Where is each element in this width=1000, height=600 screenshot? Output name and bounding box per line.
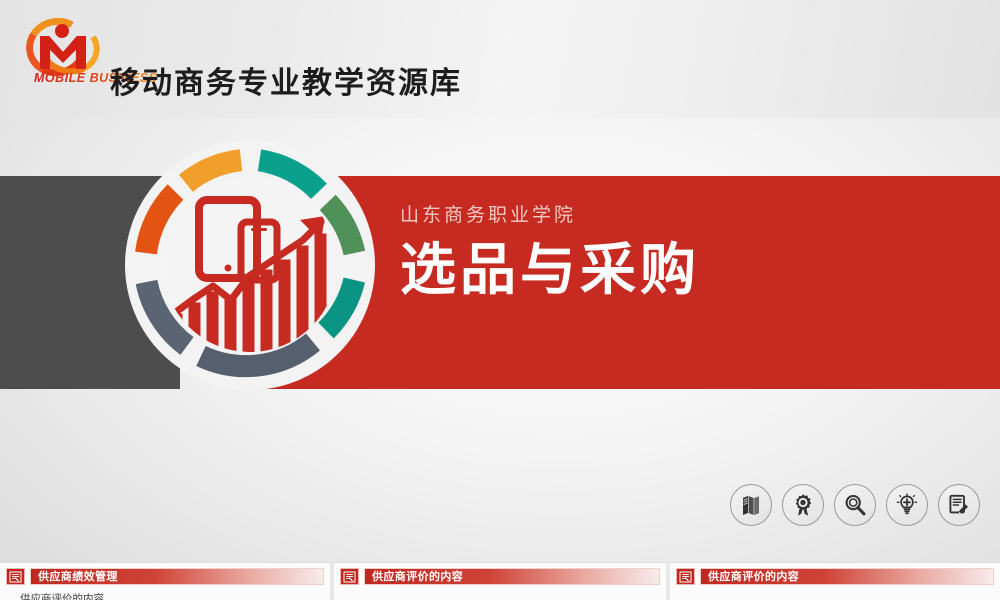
page-title: 移动商务专业教学资源库 bbox=[110, 58, 462, 102]
banner-text-block: 山东商务职业学院 选品与采购 bbox=[400, 200, 700, 301]
panel-2-title: 供应商评价的内容 bbox=[372, 571, 463, 582]
panel-1-title: 供应商绩效管理 bbox=[38, 571, 118, 582]
panel-3-title-bar: 供应商评价的内容 bbox=[700, 568, 994, 585]
award-icon[interactable] bbox=[782, 484, 824, 526]
panel-2-header: 供应商评价的内容 bbox=[340, 568, 660, 585]
panel-3[interactable]: 供应商评价的内容 bbox=[670, 562, 1000, 600]
page-header: MOBILE BUSINESS 移动商务专业教学资源库 bbox=[0, 0, 1000, 118]
bottom-panel-strip: 供应商绩效管理 供应商评价的内容 供应商评价的内容 bbox=[0, 562, 1000, 600]
magnifier-icon[interactable] bbox=[834, 484, 876, 526]
lightbulb-icon[interactable] bbox=[886, 484, 928, 526]
panel-1-body: 供应商评价的内容 bbox=[6, 591, 324, 600]
panel-2[interactable]: 供应商评价的内容 bbox=[334, 562, 666, 600]
doc-badge-icon bbox=[6, 568, 25, 585]
panel-1[interactable]: 供应商绩效管理 供应商评价的内容 bbox=[0, 562, 330, 600]
brand-lockup: MOBILE BUSINESS bbox=[22, 16, 116, 88]
mobile-business-logo-icon: MOBILE BUSINESS bbox=[22, 16, 116, 88]
panel-1-title-bar: 供应商绩效管理 bbox=[30, 568, 324, 585]
feature-icon-row bbox=[730, 484, 980, 526]
banner-subtitle: 山东商务职业学院 bbox=[400, 200, 700, 227]
panel-3-header: 供应商评价的内容 bbox=[676, 568, 994, 585]
panel-1-header: 供应商绩效管理 bbox=[6, 568, 324, 585]
books-icon[interactable] bbox=[730, 484, 772, 526]
notepad-pen-icon[interactable] bbox=[938, 484, 980, 526]
banner-title: 选品与采购 bbox=[400, 241, 700, 301]
slide-canvas: MOBILE BUSINESS 移动商务专业教学资源库 山东商务职业学院 选品与… bbox=[0, 0, 1000, 600]
panel-2-title-bar: 供应商评价的内容 bbox=[364, 568, 660, 585]
panel-3-title: 供应商评价的内容 bbox=[708, 571, 799, 582]
mobile-commerce-growth-emblem bbox=[125, 140, 375, 390]
doc-badge-icon bbox=[676, 568, 695, 585]
doc-badge-icon bbox=[340, 568, 359, 585]
